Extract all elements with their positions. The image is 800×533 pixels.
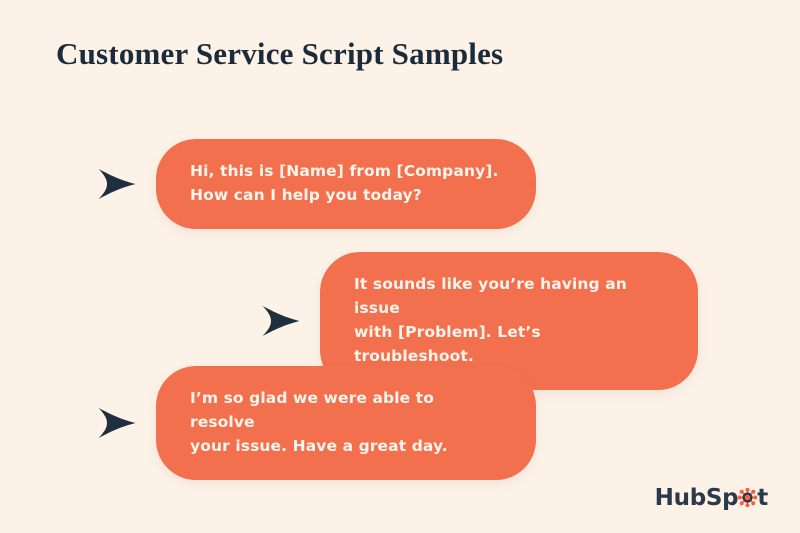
infographic-canvas: Customer Service Script Samples Hi, this… — [0, 0, 800, 533]
arrow-right-icon — [260, 303, 302, 339]
hubspot-wordmark: HubSp — [655, 485, 768, 511]
hubspot-sprocket-icon — [738, 487, 757, 506]
speech-bubble: I’m so glad we were able to resolve your… — [156, 366, 536, 480]
speech-bubble-text: I’m so glad we were able to resolve your… — [190, 386, 502, 458]
speech-bubble-text: It sounds like you’re having an issue wi… — [354, 272, 664, 368]
page-title: Customer Service Script Samples — [56, 36, 503, 72]
script-row: I’m so glad we were able to resolve your… — [96, 366, 536, 480]
hubspot-wordmark-prefix: HubSp — [655, 485, 739, 511]
arrow-right-icon — [96, 166, 138, 202]
hubspot-wordmark-suffix: t — [757, 485, 768, 511]
speech-bubble-text: Hi, this is [Name] from [Company]. How c… — [190, 159, 502, 207]
speech-bubble: Hi, this is [Name] from [Company]. How c… — [156, 139, 536, 229]
arrow-right-icon — [96, 405, 138, 441]
script-row: Hi, this is [Name] from [Company]. How c… — [96, 139, 536, 229]
hubspot-logo: HubSp — [655, 485, 768, 511]
